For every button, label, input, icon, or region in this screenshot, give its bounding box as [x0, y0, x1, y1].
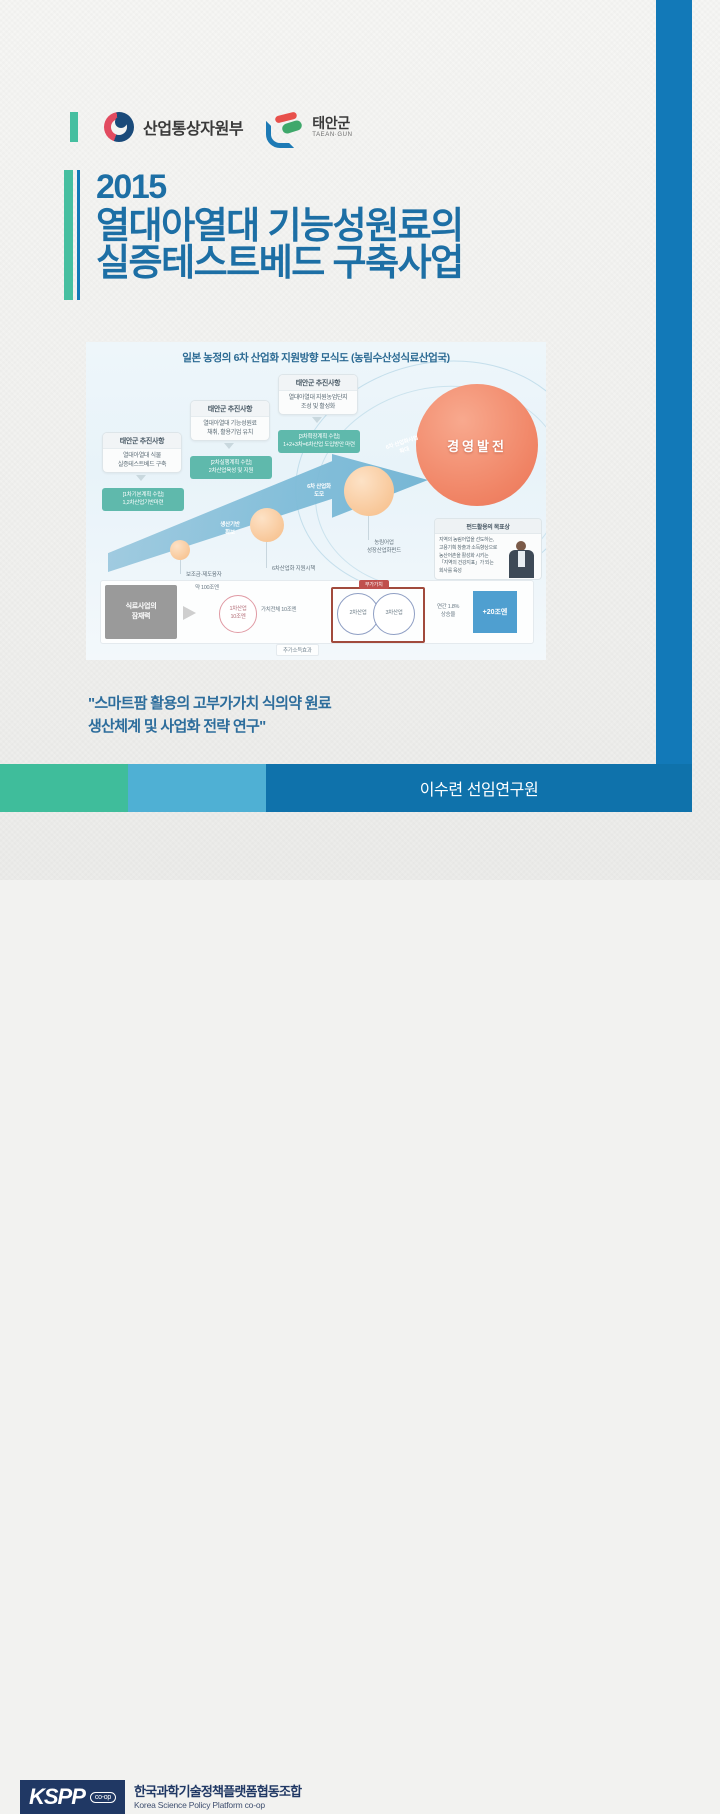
plan-step-1: [1차기본계획 수립] 1,2차산업기반마련 — [102, 488, 184, 511]
research-quote: "스마트팜 활용의 고부가가치 식의약 원료 생산체계 및 사업화 전략 연구" — [88, 692, 331, 739]
primary-industry-ring: 1차산업 10조엔 — [219, 595, 257, 633]
down-arrow-1 — [136, 475, 146, 481]
plan-step-3: [3차확장계획 수립] 1+2+3차=6차산업 도입방안 마련 — [278, 430, 360, 453]
value-chain-strip: 식료사업의 잠재력 약 100조엔 1차산업 10조엔 가치전체 10조엔 부가… — [100, 580, 534, 644]
fund-target-box: 펀드활용의 목표상 지역의 농림어업을 선도하는, 고용기획 창출과 소득향상으… — [434, 518, 542, 580]
title-accent-bars — [64, 170, 80, 300]
title-year: 2015 — [96, 170, 463, 205]
footer: KSPP co-op 한국과학기술정책플랫폼협동조합 Korea Science… — [0, 880, 720, 960]
promotion-box-3: 태안군 추진사항 열대아열대 지원농업단지 조성 및 활성화 — [278, 374, 358, 415]
leader-line-3 — [368, 516, 369, 540]
promotion-box-2-head: 태안군 추진사항 — [191, 401, 269, 417]
value-added-label: 가치전체 10조엔 — [261, 605, 296, 613]
arrow-label-2: 6차 산업화 도모 — [290, 482, 348, 498]
stage-circle-large — [344, 466, 394, 516]
taeguk-icon — [104, 112, 134, 142]
down-arrow-3 — [312, 417, 322, 423]
plan-step-2: [2차실행계획 수립] 2차산업육성 및 지원 — [190, 456, 272, 479]
added-value-box: +20조엔 — [473, 591, 517, 633]
total-value-label: 약 100조엔 — [195, 583, 219, 591]
right-blue-band — [656, 0, 692, 812]
kspp-logo-mark: KSPP co-op — [20, 1780, 125, 1814]
growth-rate-label: 연간 1.8% 상승율 — [427, 603, 469, 620]
author-band-green — [0, 764, 128, 812]
fund-target-body: 지역의 농림어업을 선도하는, 고용기획 창출과 소득향상으로 농산어촌을 활성… — [435, 534, 541, 579]
value-added-tag: 부가가치 — [359, 580, 389, 589]
ministry-logo: 산업통상자원부 — [104, 112, 243, 142]
author-band-lightblue — [128, 764, 266, 812]
ministry-logo-label: 산업통상자원부 — [143, 115, 243, 139]
kspp-org-en: Korea Science Policy Platform co-op — [134, 1800, 301, 1811]
under-label-2: 6차산업화 지원시책 — [272, 564, 315, 572]
taean-county-logo: 태안군 TAEAN·GUN — [265, 113, 352, 141]
arrow-label-1: 생산기반 확보 — [202, 520, 258, 536]
title-bar-teal — [64, 170, 73, 300]
under-label-3: 농림어업 성장산업화펀드 — [354, 538, 414, 554]
promotion-box-1-head: 태안군 추진사항 — [103, 433, 181, 449]
quote-line-2: 생산체계 및 사업화 전략 연구" — [88, 715, 331, 738]
poster-page: 산업통상자원부 태안군 TAEAN·GUN 2015 열대아열대 기능성원료의 … — [0, 0, 720, 960]
promotion-box-3-head: 태안군 추진사항 — [279, 375, 357, 391]
taean-logo-en: TAEAN·GUN — [312, 132, 352, 138]
taean-symbol-icon — [265, 113, 305, 141]
fund-target-head: 펀드활용의 목표상 — [435, 519, 541, 534]
management-growth-label: 경영발전 — [447, 436, 507, 455]
management-growth-circle: 경영발전 — [416, 384, 538, 506]
promotion-box-1-body: 열대아열대 식물 실증테스트베드 구축 — [103, 449, 181, 472]
diagram-figure: 일본 농정의 6차 산업화 지원방향 모식도 (농림수산성식료산업국) 경영발전… — [86, 342, 546, 660]
tertiary-industry-ring: 3차산업 — [373, 593, 415, 635]
title-line-2: 실증테스트베드 구축사업 — [96, 244, 463, 282]
diagram-title: 일본 농정의 6차 산업화 지원방향 모식도 (농림수산성식료산업국) — [86, 350, 546, 365]
kspp-org-ko: 한국과학기술정책플랫폼협동조합 — [134, 1784, 301, 1800]
under-label-1: 보조금·제도융자 — [186, 570, 222, 578]
logo-accent-tick — [70, 112, 78, 142]
kspp-wordmark: KSPP — [29, 1786, 85, 1808]
title-bar-blue — [77, 170, 80, 300]
taean-logo-ko: 태안군 — [312, 116, 352, 130]
promotion-box-3-body: 열대아열대 지원농업단지 조성 및 활성화 — [279, 391, 357, 414]
kspp-logo: KSPP co-op 한국과학기술정책플랫폼협동조합 Korea Science… — [20, 1780, 301, 1814]
coop-badge: co-op — [90, 1792, 116, 1803]
leader-line-1 — [180, 560, 181, 574]
quote-line-1: "스마트팜 활용의 고부가가치 식의약 원료 — [88, 692, 331, 715]
food-potential-box: 식료사업의 잠재력 — [105, 585, 177, 639]
title-block: 2015 열대아열대 기능성원료의 실증테스트베드 구축사업 — [64, 170, 463, 300]
leader-line-2 — [266, 542, 267, 568]
title-line-1: 열대아열대 기능성원료의 — [96, 207, 463, 245]
down-arrow-2 — [224, 443, 234, 449]
right-arrow-icon — [183, 606, 196, 620]
page-title: 2015 열대아열대 기능성원료의 실증테스트베드 구축사업 — [96, 170, 463, 300]
extra-income-caption: 추가소득효과 — [276, 644, 319, 656]
promotion-box-1: 태안군 추진사항 열대아열대 식물 실증테스트베드 구축 — [102, 432, 182, 473]
promotion-box-2-body: 열대아열대 기능성원료 채취, 활용기업 유치 — [191, 417, 269, 440]
promotion-box-2: 태안군 추진사항 열대아열대 기능성원료 채취, 활용기업 유치 — [190, 400, 270, 441]
logo-row: 산업통상자원부 태안군 TAEAN·GUN — [70, 112, 353, 142]
author-name: 이수련 선임연구원 — [266, 764, 692, 812]
stage-circle-small — [170, 540, 190, 560]
